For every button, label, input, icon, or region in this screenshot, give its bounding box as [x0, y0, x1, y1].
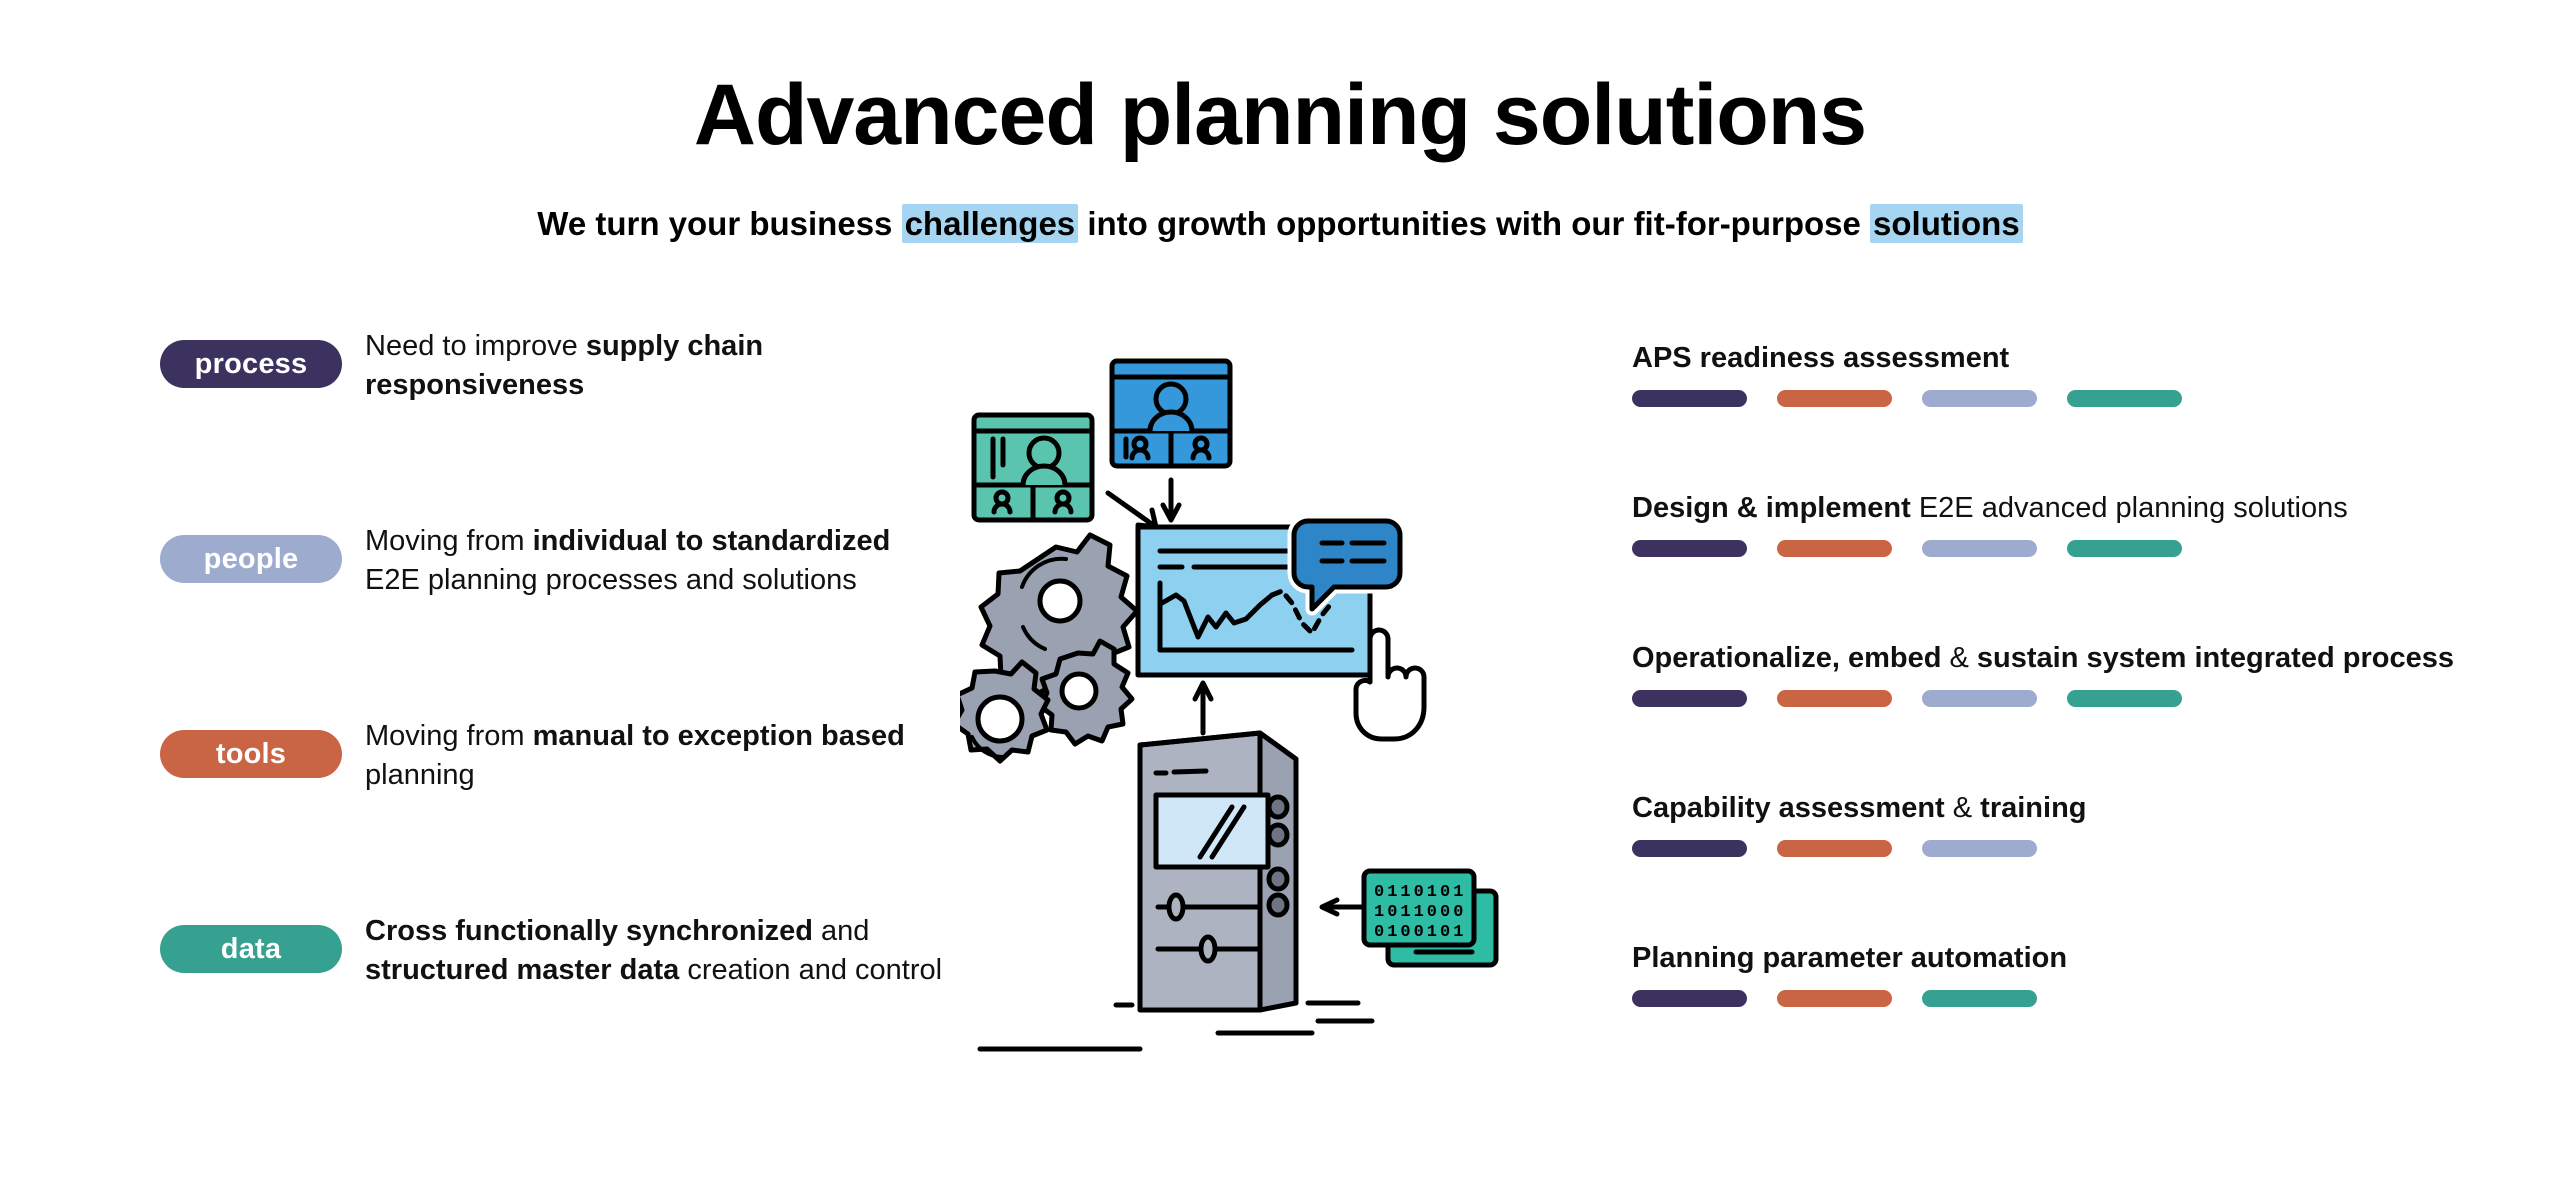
challenge-lead-process: Need to improve: [365, 330, 586, 362]
subtitle-highlight-challenges: challenges: [902, 204, 1079, 243]
offering-bars-capability: [1632, 840, 2037, 857]
bar-teal: [2067, 390, 2182, 407]
offering-bars-design-implement: [1632, 540, 2182, 557]
challenge-lead-tools: Moving from: [365, 720, 533, 752]
offering-row-design-implement: Design & implement E2E advanced planning…: [1632, 490, 2452, 640]
bar-periwinkle: [1922, 390, 2037, 407]
challenge-row-process: process Need to improve supply chain res…: [160, 340, 950, 535]
offering-bars-aps-readiness: [1632, 390, 2182, 407]
pill-process[interactable]: process: [160, 340, 342, 388]
offering-title-capability: Capability assessment & training: [1632, 790, 2452, 826]
offering-bars-planning-parameter: [1632, 990, 2037, 1007]
challenge-text-tools: Moving from manual to exception based pl…: [365, 717, 945, 794]
arrow-down-icon: [1163, 480, 1179, 520]
bar-teal: [2067, 690, 2182, 707]
challenge-text-data: Cross functionally synchronized and stru…: [365, 912, 945, 989]
offering-regular-2: E2E advanced planning solutions: [1911, 492, 2348, 524]
challenge-tail-people: E2E planning processes and solutions: [365, 564, 857, 596]
offering-bold-3b: sustain system integrated process: [1977, 642, 2454, 674]
machine-console: [1140, 733, 1296, 1010]
binary-digits: 0110101 1011000 0100101: [1374, 883, 1466, 942]
bar-periwinkle: [1922, 690, 2037, 707]
challenge-bold-data-2: structured master data: [365, 954, 679, 986]
page-subtitle: We turn your business challenges into gr…: [0, 205, 2560, 243]
offerings-column: APS readiness assessment Design & implem…: [1632, 340, 2452, 1090]
bar-purple: [1632, 690, 1747, 707]
binary-row-1: 1011000: [1374, 903, 1466, 922]
pill-people[interactable]: people: [160, 535, 342, 583]
binary-row-2: 0100101: [1374, 923, 1466, 942]
subtitle-part-1: We turn your business: [537, 205, 901, 242]
subtitle-highlight-solutions: solutions: [1870, 204, 2023, 243]
challenge-tail-tools: planning: [365, 759, 475, 791]
bar-purple: [1632, 990, 1747, 1007]
challenge-text-process: Need to improve supply chain responsiven…: [365, 327, 945, 404]
offering-row-capability: Capability assessment & training: [1632, 790, 2452, 940]
bar-terracotta: [1777, 840, 1892, 857]
gear-small: [960, 662, 1048, 761]
challenge-row-tools: tools Moving from manual to exception ba…: [160, 730, 950, 925]
challenge-bold-tools: manual to exception based: [533, 720, 905, 752]
challenge-mid-data: and: [813, 915, 869, 947]
offering-bold-4b: training: [1980, 792, 2086, 824]
bar-periwinkle: [1922, 840, 2037, 857]
challenge-tail-data: creation and control: [679, 954, 942, 986]
challenge-text-people: Moving from individual to standardized E…: [365, 522, 945, 599]
offering-title-planning-parameter: Planning parameter automation: [1632, 940, 2452, 976]
pill-tools[interactable]: tools: [160, 730, 342, 778]
pill-data[interactable]: data: [160, 925, 342, 973]
challenge-row-people: people Moving from individual to standar…: [160, 535, 950, 730]
offering-regular-3: &: [1941, 642, 1976, 674]
offering-title-operationalize: Operationalize, embed & sustain system i…: [1632, 640, 2452, 676]
challenge-row-data: data Cross functionally synchronized and…: [160, 925, 950, 1120]
video-call-window-blue: [1112, 361, 1230, 466]
page-title: Advanced planning solutions: [0, 70, 2560, 160]
subtitle-part-2: into growth opportunities with our fit-f…: [1078, 205, 1870, 242]
bar-terracotta: [1777, 540, 1892, 557]
offering-regular-4: &: [1945, 792, 1980, 824]
offering-bold-4a: Capability assessment: [1632, 792, 1945, 824]
offering-row-planning-parameter: Planning parameter automation: [1632, 940, 2452, 1090]
bar-purple: [1632, 840, 1747, 857]
challenge-bold-data-1: Cross functionally synchronized: [365, 915, 813, 947]
video-call-window-teal: [974, 415, 1092, 520]
bar-purple: [1632, 390, 1747, 407]
offering-bold-5: Planning parameter automation: [1632, 942, 2067, 974]
bar-teal: [2067, 540, 2182, 557]
offering-row-operationalize: Operationalize, embed & sustain system i…: [1632, 640, 2452, 790]
bar-terracotta: [1777, 990, 1892, 1007]
binary-row-0: 0110101: [1374, 883, 1466, 902]
bar-terracotta: [1777, 690, 1892, 707]
offering-title-aps-readiness: APS readiness assessment: [1632, 340, 2452, 376]
offering-bold-1: APS readiness assessment: [1632, 342, 2009, 374]
challenge-lead-people: Moving from: [365, 525, 533, 557]
arrow-up-icon: [1195, 683, 1211, 733]
bar-teal: [1922, 990, 2037, 1007]
offering-row-aps-readiness: APS readiness assessment: [1632, 340, 2452, 490]
offering-bold-2: Design & implement: [1632, 492, 1911, 524]
offering-title-design-implement: Design & implement E2E advanced planning…: [1632, 490, 2452, 526]
arrow-diagonal-icon: [1108, 493, 1156, 527]
bar-periwinkle: [1922, 540, 2037, 557]
offering-bold-3a: Operationalize, embed: [1632, 642, 1941, 674]
offering-bars-operationalize: [1632, 690, 2182, 707]
challenge-bold-people: individual to standardized: [533, 525, 891, 557]
arrow-left-icon: [1322, 900, 1364, 914]
bar-purple: [1632, 540, 1747, 557]
challenges-column: process Need to improve supply chain res…: [160, 340, 950, 1120]
bar-terracotta: [1777, 390, 1892, 407]
central-illustration: 0110101 1011000 0100101: [960, 355, 1600, 1075]
slide-root: Advanced planning solutions We turn your…: [0, 0, 2560, 1200]
